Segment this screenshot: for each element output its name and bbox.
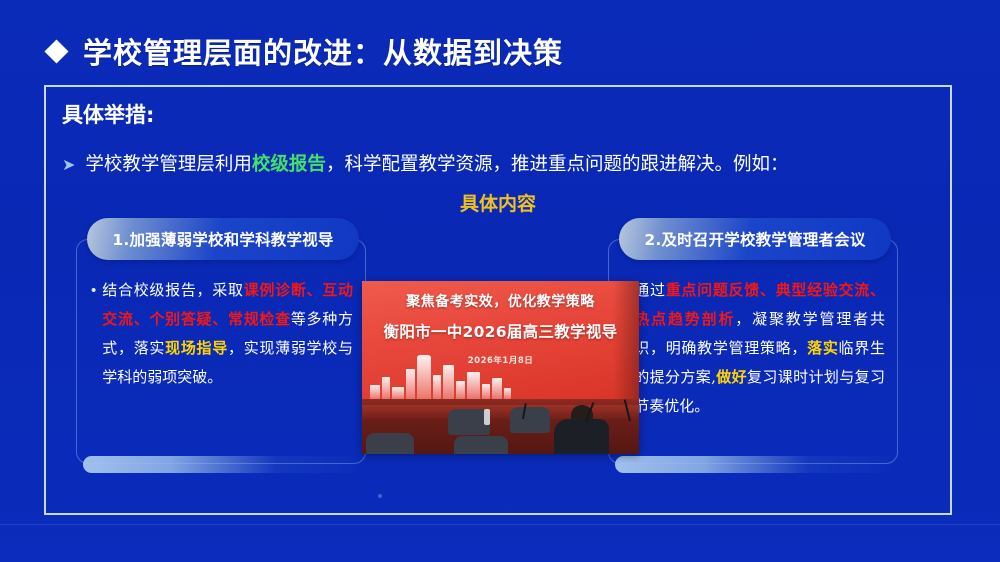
bottom-divider	[0, 524, 1000, 525]
conference-photo: 聚焦备考实效，优化教学策略 衡阳市一中2026届高三教学视导 2026年1月8日	[362, 281, 639, 454]
measure-card-1-footer-bar	[83, 456, 359, 473]
measure-card-2-header: 2.及时召开学校教学管理者会议	[619, 218, 891, 260]
photo-banner-line1: 聚焦备考实效，优化教学策略	[362, 291, 639, 311]
bullet-highlight: 校级报告	[252, 154, 326, 175]
section-subheading: 具体举措:	[62, 99, 154, 129]
diamond-icon	[44, 39, 68, 63]
text-segment-yellow: 落实	[807, 339, 838, 357]
text-segment-yellow: 做好	[716, 368, 747, 386]
measures-bullet-line: ➤ 学校教学管理层利用校级报告，科学配置教学资源，推进重点问题的跟进解决。例如：	[62, 150, 940, 176]
measure-card-1-header: 1.加强薄弱学校和学科教学视导	[87, 218, 359, 260]
conference-table	[362, 405, 639, 419]
page-title: 学校管理层面的改进：从数据到决策	[83, 30, 563, 72]
measure-card-1: 1.加强薄弱学校和学科教学视导 • 结合校级报告，采取课例诊断、互动交流、个别答…	[76, 239, 366, 464]
dot-bullet-icon: •	[91, 276, 96, 392]
chair-icon	[454, 436, 508, 454]
photo-banner-text: 聚焦备考实效，优化教学策略 衡阳市一中2026届高三教学视导 2026年1月8日	[362, 291, 639, 366]
measure-card-2-footer-bar	[615, 456, 891, 473]
water-bottle-icon	[484, 409, 490, 425]
measure-card-2-body: • 通过重点问题反馈、典型经验交流、热点趋势剖析，凝聚教学管理者共识，明确教学管…	[623, 276, 885, 421]
measure-card-1-title: 1.加强薄弱学校和学科教学视导	[112, 228, 333, 250]
photo-banner-line2: 衡阳市一中2026届高三教学视导	[362, 320, 639, 342]
decorative-dot	[378, 494, 382, 498]
bullet-text-part2: ，科学配置教学资源，推进重点问题的跟进解决。例如：	[326, 154, 789, 175]
photo-banner-date: 2026年1月8日	[362, 354, 639, 366]
measure-card-2-text: 通过重点问题反馈、典型经验交流、热点趋势剖析，凝聚教学管理者共识，明确教学管理策…	[634, 276, 885, 421]
bullet-sentence: 学校教学管理层利用校级报告，科学配置教学资源，推进重点问题的跟进解决。例如：	[85, 150, 788, 176]
arrow-bullet-icon: ➤	[62, 155, 75, 174]
person-body	[554, 419, 609, 454]
slide-title-row: 学校管理层面的改进：从数据到决策	[48, 30, 563, 72]
bullet-text-part1: 学校教学管理层利用	[85, 154, 252, 175]
chair-icon	[510, 407, 550, 433]
measure-card-2: 2.及时召开学校教学管理者会议 • 通过重点问题反馈、典型经验交流、热点趋势剖析…	[608, 239, 898, 464]
center-subtitle: 具体内容	[46, 189, 950, 216]
measure-card-2-title: 2.及时召开学校教学管理者会议	[644, 228, 865, 250]
measure-card-1-body: • 结合校级报告，采取课例诊断、互动交流、个别答疑、常规检查等多种方式，落实现场…	[91, 276, 353, 392]
text-segment-yellow: 现场指导	[165, 339, 228, 357]
chair-icon	[366, 433, 414, 454]
measure-card-1-text: 结合校级报告，采取课例诊断、互动交流、个别答疑、常规检查等多种方式，落实现场指导…	[102, 276, 353, 392]
slide-canvas: 学校管理层面的改进：从数据到决策 具体举措: ➤ 学校教学管理层利用校级报告，科…	[0, 0, 1000, 562]
led-backdrop: 聚焦备考实效，优化教学策略 衡阳市一中2026届高三教学视导 2026年1月8日	[362, 281, 639, 399]
text-segment: 结合校级报告，采取	[102, 281, 243, 299]
